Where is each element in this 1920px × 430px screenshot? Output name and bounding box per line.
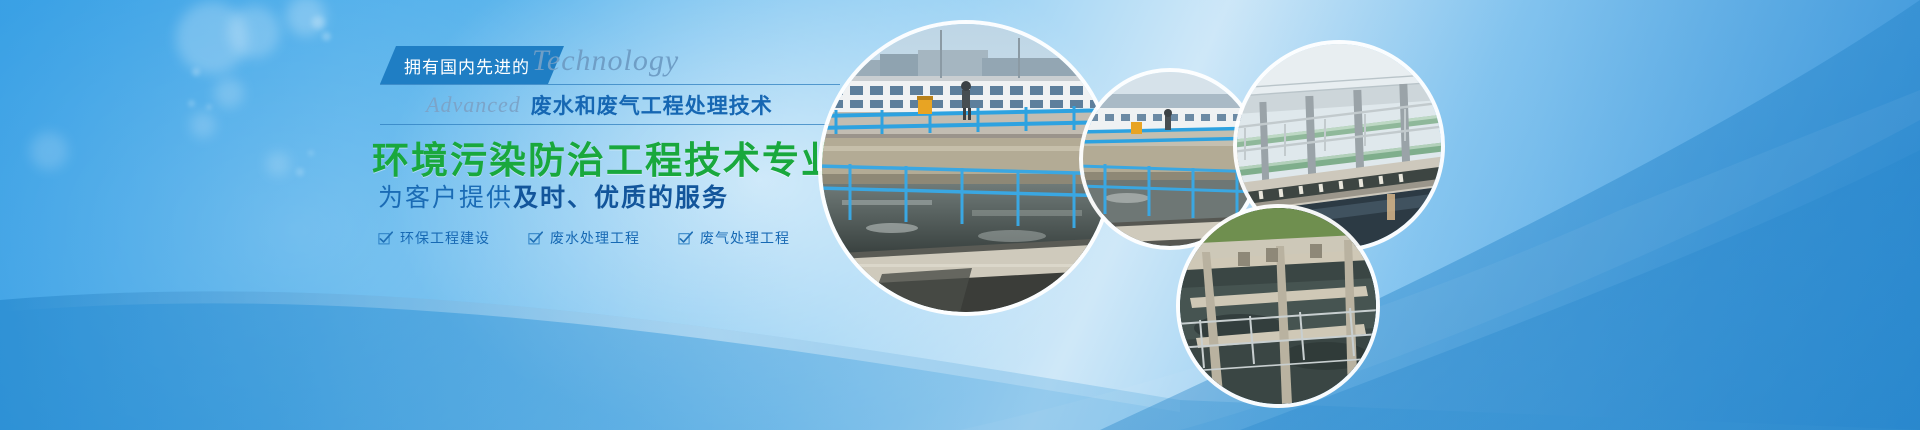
subheading-text: 废水和废气工程处理技术	[531, 90, 773, 120]
divider-rule-bottom	[380, 124, 840, 125]
feature-item-label: 废水处理工程	[550, 228, 640, 248]
hero-text-block: 拥有国内先进的 Technology Advanced 废水和废气工程处理技术 …	[360, 46, 840, 306]
tag-row: 拥有国内先进的 Technology	[360, 46, 840, 84]
divider-rule-top	[380, 84, 840, 85]
hero-banner: 拥有国内先进的 Technology Advanced 废水和废气工程处理技术 …	[0, 0, 1920, 430]
wastewater-treatment-plant-large	[822, 24, 1110, 312]
feature-item-label: 环保工程建设	[400, 228, 490, 248]
feature-list: 环保工程建设 废水处理工程 废气处理工程	[378, 228, 790, 248]
tagline-normal: 为客户提供	[378, 184, 513, 212]
feature-item-label: 废气处理工程	[700, 228, 790, 248]
check-box-icon	[678, 231, 693, 246]
tagline-strong: 及时、优质的服务	[513, 184, 729, 212]
feature-item-0[interactable]: 环保工程建设	[378, 228, 490, 248]
feature-item-2[interactable]: 废气处理工程	[678, 228, 790, 248]
script-word-advanced: Advanced	[380, 92, 521, 118]
script-word-technology: Technology	[532, 44, 679, 78]
aeration-basin-photo	[1180, 208, 1376, 404]
check-box-icon	[378, 231, 393, 246]
tagline-text: 为客户提供及时、优质的服务	[378, 178, 729, 214]
check-box-icon	[528, 231, 543, 246]
subheading-row: Advanced 废水和废气工程处理技术	[380, 88, 773, 122]
feature-item-1[interactable]: 废水处理工程	[528, 228, 640, 248]
